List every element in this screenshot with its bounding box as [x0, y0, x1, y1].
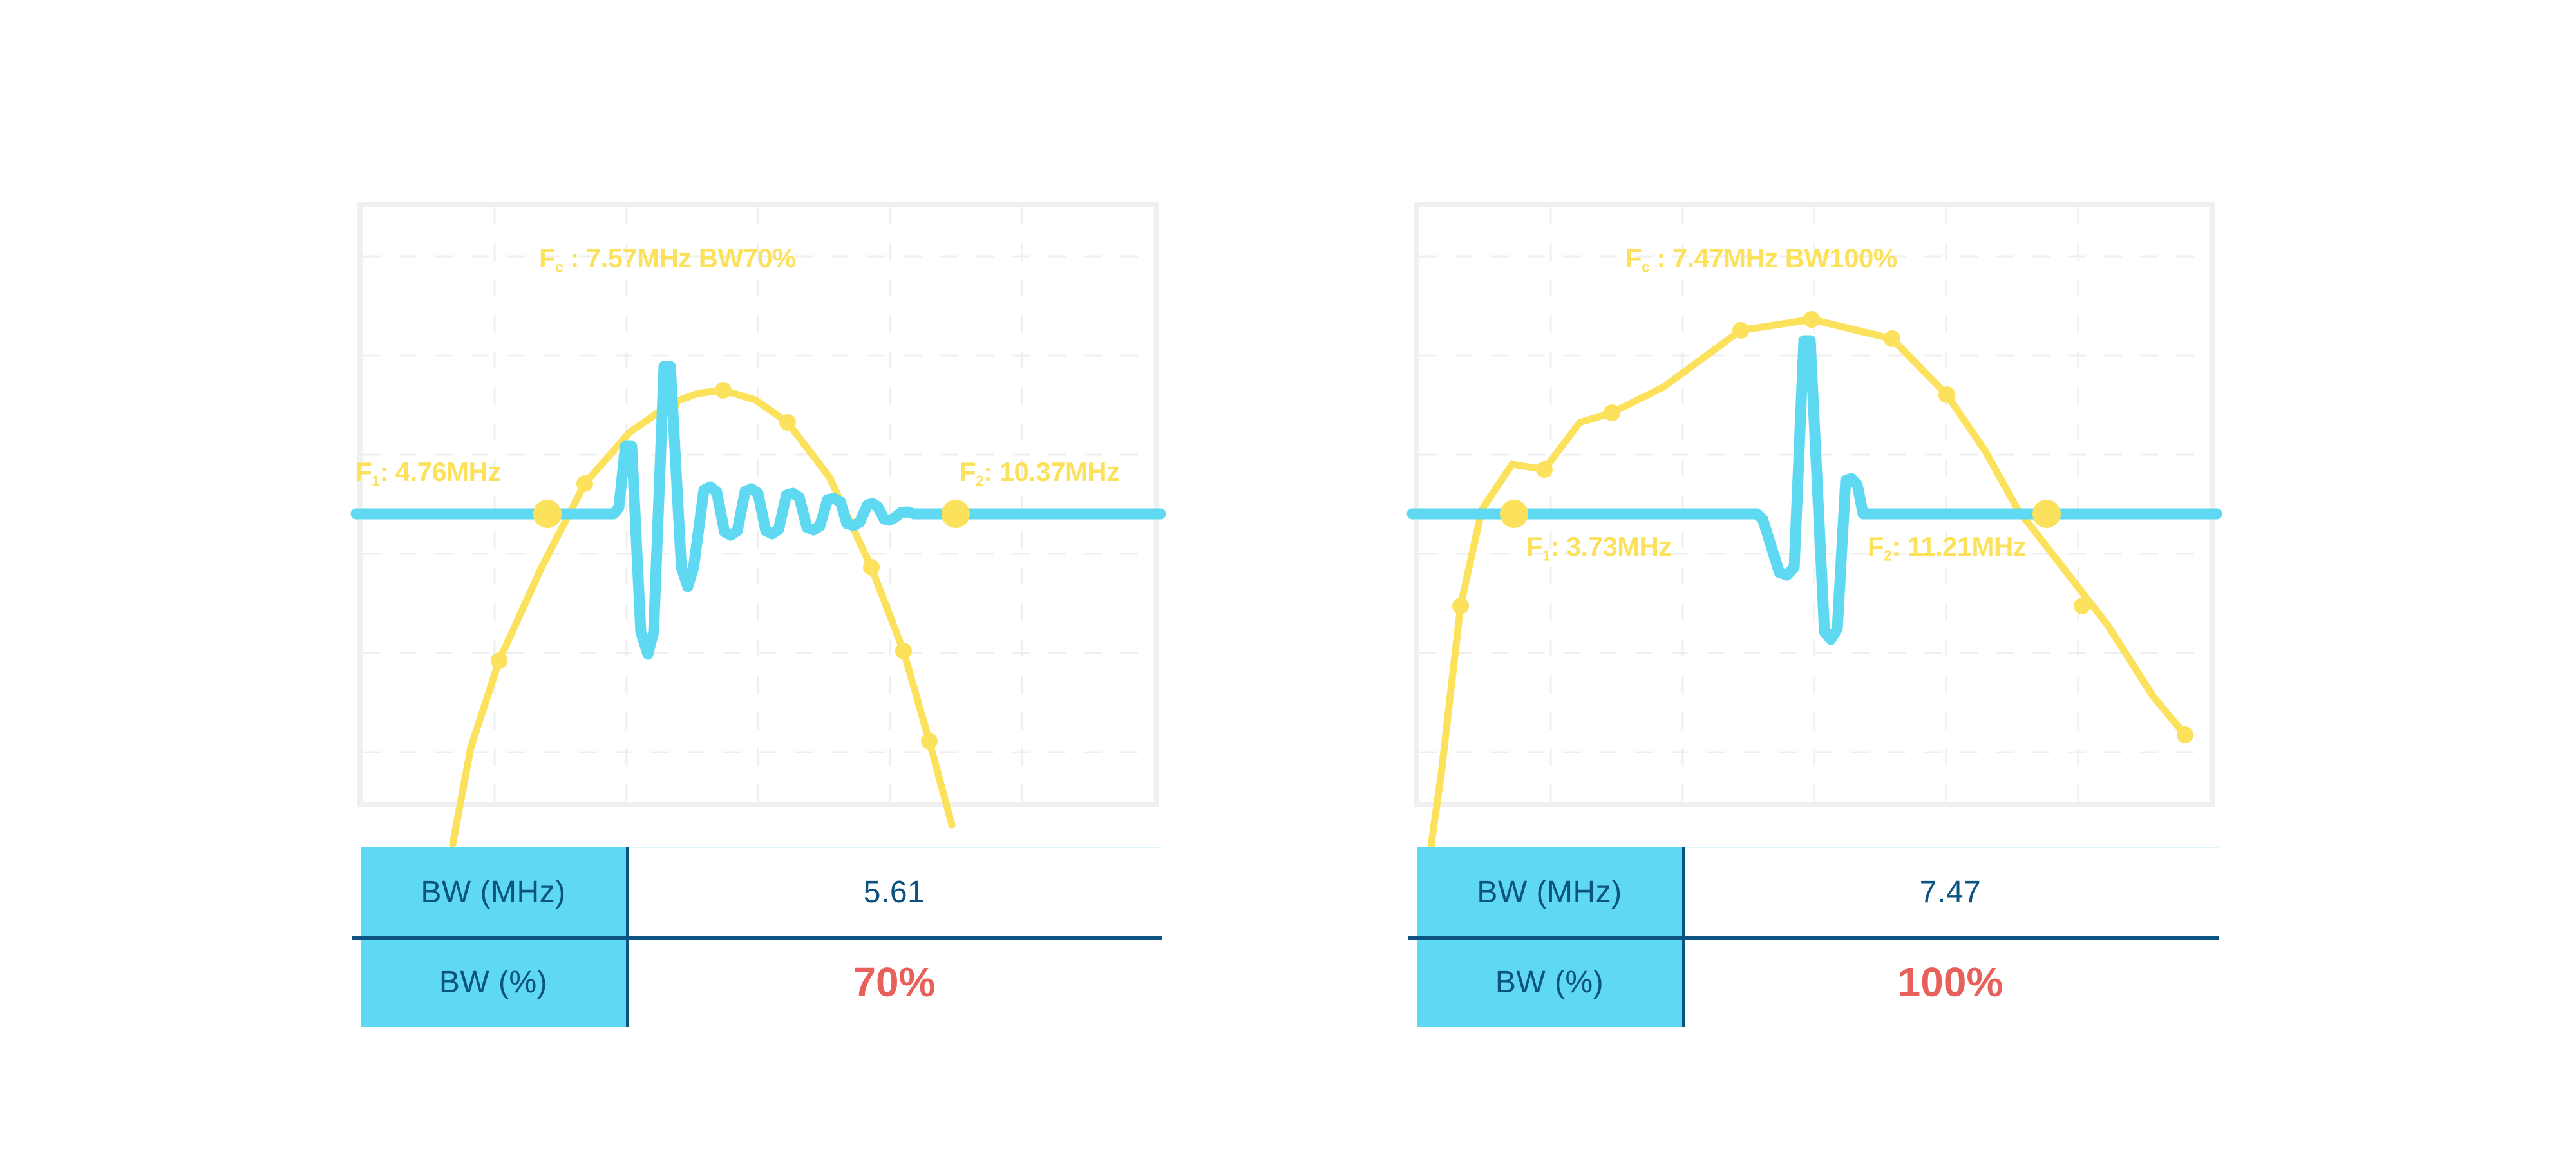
- spectrum-curve-left: [453, 390, 952, 844]
- f2-annotation-right: F2: 11.21MHz: [1868, 533, 2026, 563]
- f2-marker-right: [2032, 500, 2061, 528]
- bw-table-left: BW (MHz) 5.61 BW (%) 70%: [361, 847, 1162, 1027]
- bw-mhz-value-cell: 5.61: [626, 847, 1162, 937]
- fc-annotation-right: Fc : 7.47MHz BW100%: [1625, 245, 1897, 274]
- table-top-hairline: [626, 847, 1162, 848]
- chart-frame-right: [1414, 202, 2215, 807]
- chart-right: [1419, 207, 2210, 802]
- table-top-hairline: [1682, 847, 2219, 848]
- spectrum-markers-left: [491, 382, 938, 750]
- panel-left: Fc : 7.57MHz BW70% F1: 4.76MHz F2: 10.37…: [322, 0, 1185, 1154]
- table-row: BW (MHz) 7.47: [1417, 847, 2219, 937]
- bw-pct-value-cell: 100%: [1682, 937, 2219, 1027]
- table-row-divider: [352, 936, 1162, 940]
- f1-annotation-right: F1: 3.73MHz: [1526, 533, 1672, 563]
- bw-pct-header: BW (%): [361, 937, 626, 1027]
- f1-marker-left: [533, 500, 562, 528]
- bw-table-right: BW (MHz) 7.47 BW (%) 100%: [1417, 847, 2219, 1027]
- f1-annotation-left: F1: 4.76MHz: [355, 459, 501, 488]
- f2-annotation-left: F2: 10.37MHz: [960, 459, 1119, 488]
- bw-pct-value: 100%: [1898, 958, 2003, 1006]
- f2-marker-left: [942, 500, 970, 528]
- pulse-waveform-right: [1412, 341, 2217, 639]
- bw-mhz-header: BW (MHz): [1417, 847, 1682, 937]
- f1-marker-right: [1500, 500, 1528, 528]
- bw-pct-header: BW (%): [1417, 937, 1682, 1027]
- table-row: BW (MHz) 5.61: [361, 847, 1162, 937]
- bw-pct-value-cell: 70%: [626, 937, 1162, 1027]
- table-row-divider: [1408, 936, 2219, 940]
- bw-mhz-value-cell: 7.47: [1682, 847, 2219, 937]
- fc-annotation-left: Fc : 7.57MHz BW70%: [539, 245, 796, 274]
- chart-left: [363, 207, 1154, 802]
- table-row: BW (%) 100%: [1417, 937, 2219, 1027]
- bw-pct-value: 70%: [853, 958, 935, 1006]
- bw-mhz-value: 5.61: [864, 875, 925, 910]
- figure-root: Fc : 7.57MHz BW70% F1: 4.76MHz F2: 10.37…: [0, 0, 2576, 1154]
- panel-right: Fc : 7.47MHz BW100% F1: 3.73MHz F2: 11.2…: [1378, 0, 2241, 1154]
- chart-frame-left: [357, 202, 1159, 807]
- bw-mhz-header: BW (MHz): [361, 847, 626, 937]
- table-row: BW (%) 70%: [361, 937, 1162, 1027]
- bw-mhz-value: 7.47: [1920, 875, 1981, 910]
